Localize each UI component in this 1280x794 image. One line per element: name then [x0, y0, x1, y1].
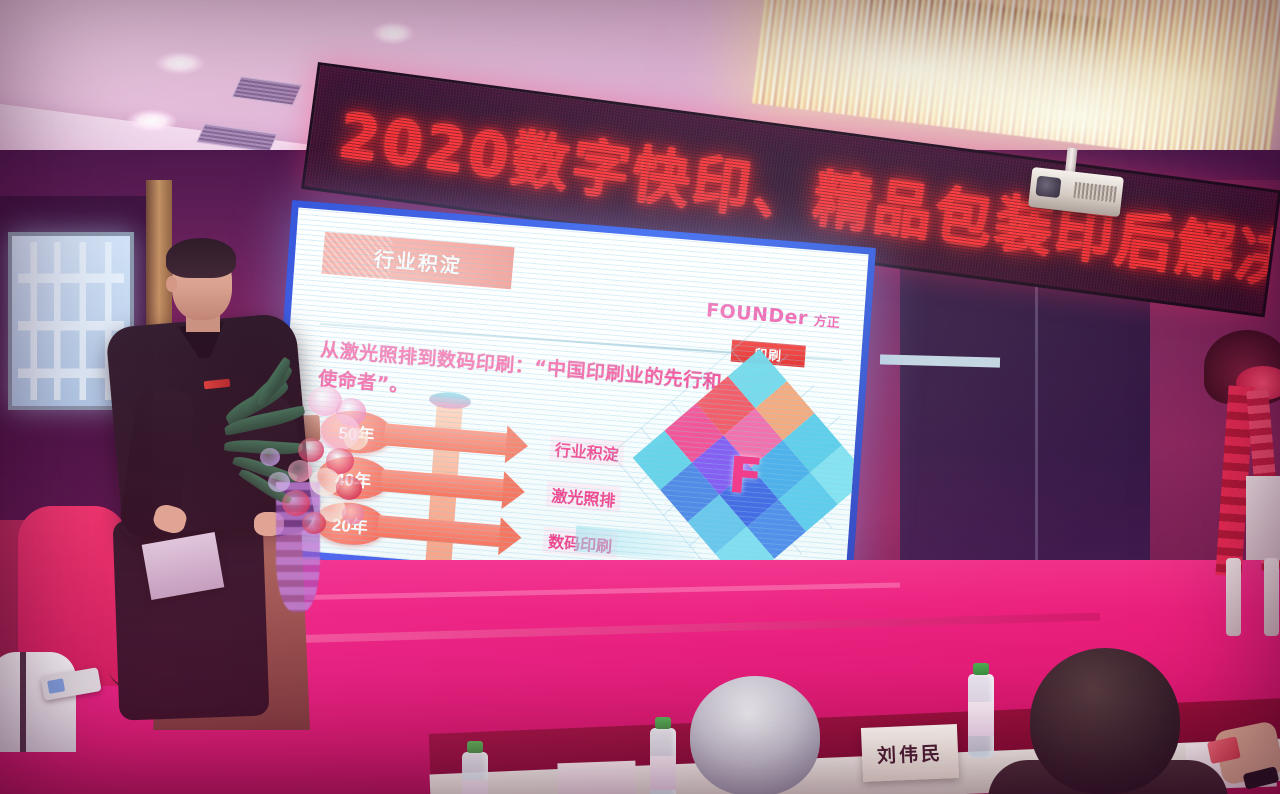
arrow-right-icon [377, 515, 502, 547]
ceiling-downlight [156, 52, 204, 74]
ceiling-downlight [372, 22, 414, 44]
founder-logo-en: FOUNDer [705, 299, 808, 329]
name-placard-text: 刘伟民 [876, 738, 943, 768]
water-bottle [968, 674, 994, 758]
flower-petal [288, 460, 312, 482]
name-placard-partial [557, 761, 636, 794]
air-vent [232, 76, 303, 106]
seated-person [0, 652, 76, 752]
bottle-cap-icon [973, 663, 989, 675]
flower-petal [268, 472, 290, 492]
audience-member-head [1030, 648, 1180, 794]
flower-stand-leg [1226, 558, 1241, 636]
water-bottle [650, 728, 676, 794]
bottle-label [968, 702, 994, 736]
arrow-right-icon [384, 423, 509, 455]
podium-flower-arrangement [224, 352, 384, 582]
projector-lens-icon [1035, 176, 1061, 199]
flower-petal [310, 468, 340, 496]
flower-petal [282, 490, 310, 516]
bottle-label [462, 780, 488, 794]
water-bottle [462, 752, 488, 794]
founder-letter-f: F [727, 450, 777, 506]
arrow-right-icon [380, 469, 505, 501]
founder-logo: FOUNDer 方正 [705, 299, 840, 332]
name-placard: 刘伟民 [861, 724, 959, 782]
flower-petal [302, 512, 326, 534]
bottle-label [650, 756, 676, 790]
bottle-cap-icon [655, 717, 671, 729]
projector-vent-icon [1073, 182, 1117, 203]
flower-petal [342, 504, 364, 524]
slide-title: 行业积淀 [373, 242, 463, 278]
slide-title-band: 行业积淀 [321, 232, 514, 289]
audience-member-head [690, 676, 820, 794]
flower-stand-card [1246, 476, 1280, 560]
presenter-ear [166, 276, 177, 292]
flower-petal [298, 438, 324, 462]
presenter-hair [166, 238, 236, 278]
flower-stand-leg [1264, 558, 1279, 636]
ceiling-downlight [128, 110, 176, 132]
timeline-label: 激光照排 [546, 481, 622, 513]
founder-logo-cn: 方正 [813, 310, 840, 331]
congratulatory-flower-stand [1198, 330, 1280, 630]
flower-petal [336, 476, 362, 500]
flower-petal [260, 448, 280, 466]
flower-petal [344, 428, 368, 450]
bottle-cap-icon [467, 741, 483, 753]
conference-hall-scene: 2020数字快印、精品包装印后解决方案客户研讨会 行业积淀 FOUNDer 方正… [0, 0, 1280, 794]
